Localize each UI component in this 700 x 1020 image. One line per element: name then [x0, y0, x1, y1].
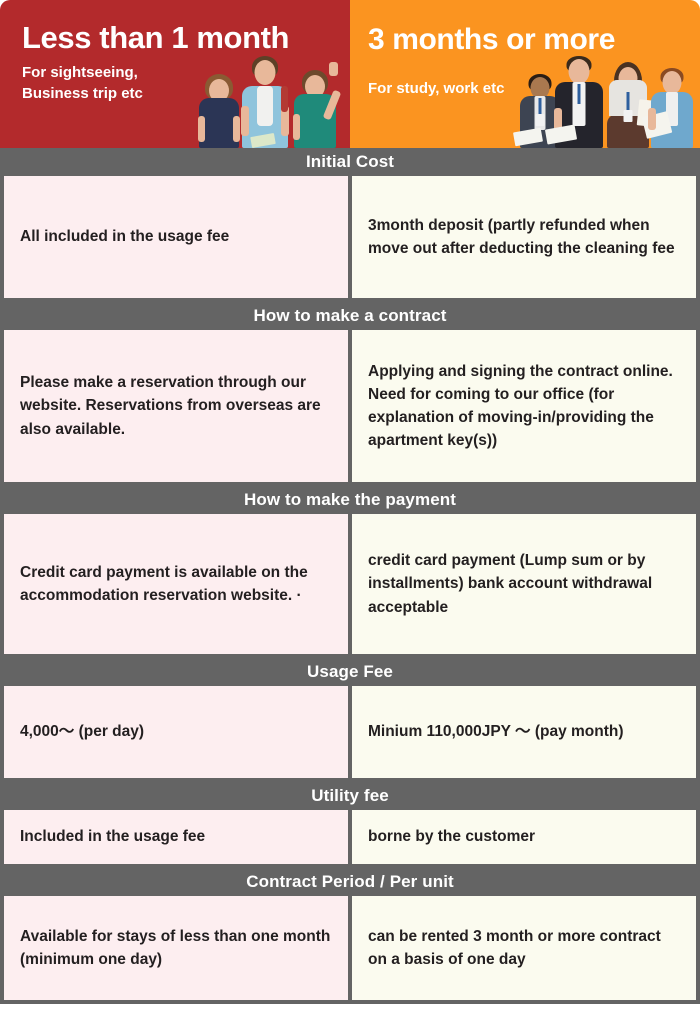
cell-right-contract: Applying and signing the contract online…: [352, 330, 696, 482]
table-row: Please make a reservation through our we…: [0, 330, 700, 486]
business-person-2: [552, 56, 606, 148]
tourist-person-2: [238, 56, 292, 148]
section-heading-contract-period: Contract Period / Per unit: [0, 868, 700, 896]
table-row: Credit card payment is available on the …: [0, 514, 700, 658]
cell-left-utility-fee: Included in the usage fee: [4, 810, 348, 864]
section-heading-utility-fee: Utility fee: [0, 782, 700, 810]
table-row: Included in the usage fee borne by the c…: [0, 810, 700, 868]
tourist-person-3: [290, 68, 340, 148]
header-subtitle-right: For study, work etc: [368, 78, 504, 99]
cell-right-contract-period: can be rented 3 month or more contract o…: [352, 896, 696, 1000]
cell-left-payment: Credit card payment is available on the …: [4, 514, 348, 654]
business-people-photo: [518, 52, 696, 148]
header-title-left: Less than 1 month: [22, 22, 289, 55]
section-heading-how-to-make-the-payment: How to make the payment: [0, 486, 700, 514]
section-heading-how-to-make-a-contract: How to make a contract: [0, 302, 700, 330]
cell-right-initial-cost: 3month deposit (partly refunded when mov…: [352, 176, 696, 298]
cell-left-contract-period: Available for stays of less than one mon…: [4, 896, 348, 1000]
tourists-photo: [194, 52, 342, 148]
table-row: All included in the usage fee 3month dep…: [0, 176, 700, 302]
business-person-4: [648, 68, 696, 148]
section-heading-usage-fee: Usage Fee: [0, 658, 700, 686]
business-person-3: [604, 62, 652, 148]
section-heading-initial-cost: Initial Cost: [0, 148, 700, 176]
cell-right-usage-fee: Minium 110,000JPY ～ (pay month): [352, 686, 696, 778]
header-panel-short-stay: Less than 1 month For sightseeing, Busin…: [0, 0, 350, 148]
header-panels: Less than 1 month For sightseeing, Busin…: [0, 0, 700, 148]
header-panel-long-stay: 3 months or more For study, work etc: [350, 0, 700, 148]
header-subtitle-left: For sightseeing, Business trip etc: [22, 62, 143, 105]
comparison-table-page: Less than 1 month For sightseeing, Busin…: [0, 0, 700, 1020]
table-row: 4,000～ (per day) Minium 110,000JPY ～ (pa…: [0, 686, 700, 782]
cell-left-usage-fee: 4,000～ (per day): [4, 686, 348, 778]
table-row: Available for stays of less than one mon…: [0, 896, 700, 1004]
cell-right-utility-fee: borne by the customer: [352, 810, 696, 864]
cell-right-payment: credit card payment (Lump sum or by inst…: [352, 514, 696, 654]
cell-left-initial-cost: All included in the usage fee: [4, 176, 348, 298]
tourist-person-1: [196, 74, 242, 148]
cell-left-contract: Please make a reservation through our we…: [4, 330, 348, 482]
header-title-right: 3 months or more: [368, 24, 615, 56]
business-person-1: [518, 74, 562, 148]
